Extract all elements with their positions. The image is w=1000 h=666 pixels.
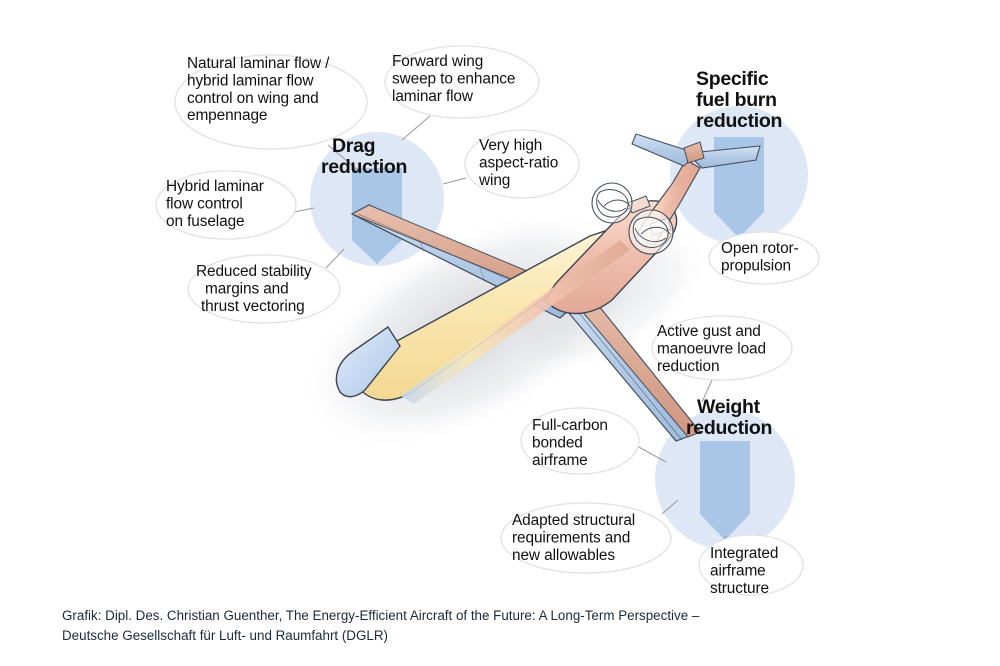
figure-caption: Grafik: Dipl. Des. Christian Guenther, T… — [62, 606, 842, 646]
aircraft-infographic: Natural laminar flow / hybrid laminar fl… — [0, 0, 1000, 666]
leader-reduced-stability-margins — [326, 249, 344, 268]
leader-forward-wing-sweep — [402, 116, 430, 140]
callout-full-carbon-bonded-airframe[interactable]: Full-carbon bonded airframe — [521, 408, 639, 474]
infographic-stage: Natural laminar flow / hybrid laminar fl… — [0, 0, 1000, 666]
callout-active-gust-manoeuvre-load[interactable]: Active gust and manoeuvre load reduction — [652, 316, 792, 380]
hub-title-specific-fuel-burn-reduction: Specific fuel burn reduction — [696, 68, 782, 132]
leader-very-high-aspect-ratio-wing — [443, 178, 466, 184]
callout-forward-wing-sweep[interactable]: Forward wing sweep to enhance laminar fl… — [385, 46, 539, 118]
hub-title-weight-reduction: Weight reduction — [686, 396, 772, 439]
callout-open-rotor-propulsion[interactable]: Open rotor- propulsion — [709, 232, 819, 284]
open-rotor-engine-lower — [629, 210, 673, 254]
callout-reduced-stability-margins[interactable]: Reduced stability margins and thrust vec… — [188, 255, 340, 323]
callout-integrated-airframe-structure[interactable]: Integrated airframe structure — [699, 535, 803, 597]
callout-adapted-structural-requirements[interactable]: Adapted structural requirements and new … — [501, 503, 671, 573]
callout-very-high-aspect-ratio-wing[interactable]: Very high aspect-ratio wing — [465, 130, 579, 198]
callout-hybrid-laminar-flow-fuselage[interactable]: Hybrid laminar flow control on fuselage — [156, 171, 296, 239]
bubble-label: Open rotor- propulsion — [721, 240, 803, 274]
